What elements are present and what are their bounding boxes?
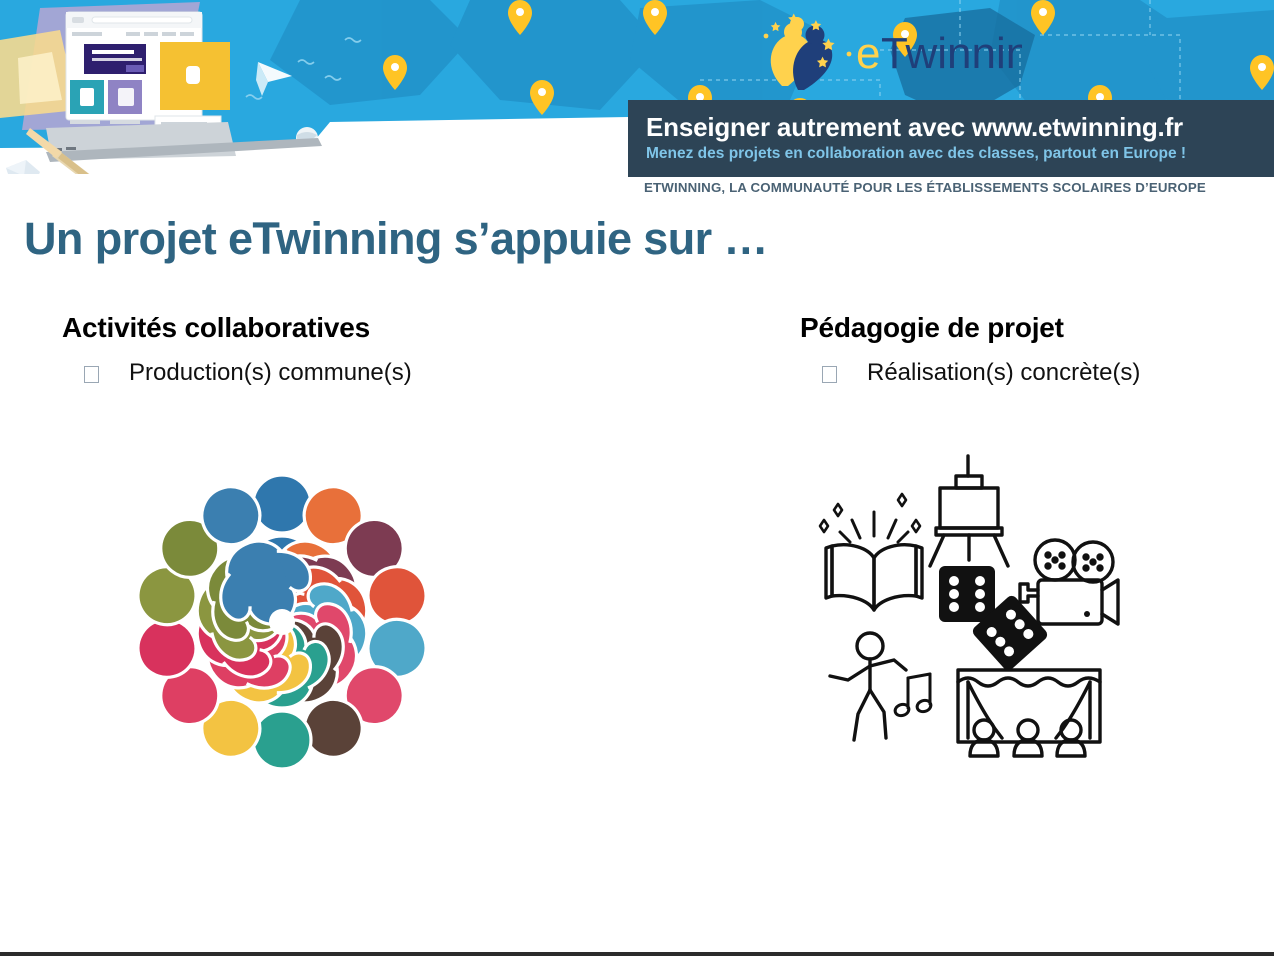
tagline-main: Enseigner autrement avec www.etwinning.f… xyxy=(646,113,1274,141)
theater-stage-icon xyxy=(958,670,1100,756)
column-pedagogie-de-projet: Pédagogie de projet Réalisation(s) concr… xyxy=(800,312,1260,386)
bullet-square-icon xyxy=(822,366,837,383)
dice-icon xyxy=(939,566,995,622)
column-heading-right: Pédagogie de projet xyxy=(800,312,1260,344)
etwinning-logo-header: e Twinning xyxy=(752,12,1022,92)
svg-text:Twinning: Twinning xyxy=(881,29,1022,78)
svg-text:e: e xyxy=(856,29,880,78)
open-book-icon xyxy=(820,494,922,610)
column-heading-left: Activités collaboratives xyxy=(62,312,622,344)
bullet-label: Réalisation(s) concrète(s) xyxy=(867,360,1140,386)
banner-footer-text: ETWINNING, LA COMMUNAUTÉ POUR LES ÉTABLI… xyxy=(644,180,1274,195)
bullet-square-icon xyxy=(84,366,99,383)
header-banner: Enseigner autrement avec www.etwinning.f… xyxy=(0,0,1274,200)
tagline-sub: Menez des projets en collaboration avec … xyxy=(646,144,1274,163)
dancing-person-icon xyxy=(830,633,932,740)
bullet-label: Production(s) commune(s) xyxy=(129,360,412,386)
page-title: Un projet eTwinning s’appuie sur … xyxy=(24,213,768,265)
film-camera-icon xyxy=(1020,540,1118,624)
project-activity-icons xyxy=(812,438,1148,768)
tagline-band: Enseigner autrement avec www.etwinning.f… xyxy=(628,100,1274,177)
laptop-illustration xyxy=(0,2,322,162)
easel-icon xyxy=(930,456,1008,566)
column-activites-collaboratives: Activités collaboratives Production(s) c… xyxy=(62,312,622,386)
circle-of-people-illustration xyxy=(92,432,472,812)
slide: Enseigner autrement avec www.etwinning.f… xyxy=(0,0,1274,956)
list-item: Réalisation(s) concrète(s) xyxy=(800,360,1260,386)
footer-logos: e Twinning xyxy=(0,864,1274,952)
list-item: Production(s) commune(s) xyxy=(62,360,622,386)
